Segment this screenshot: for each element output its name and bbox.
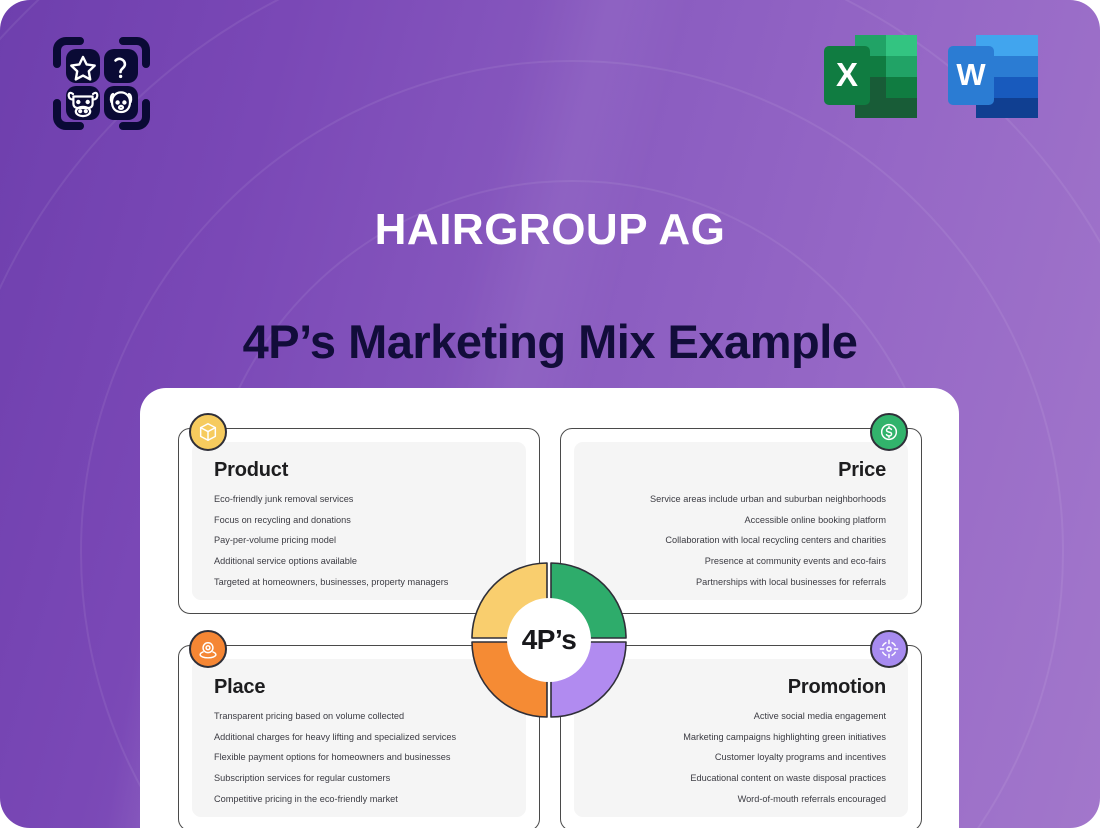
list-item: Accessible online booking platform [596,516,886,525]
quadrant-title: Place [214,676,504,699]
list-item: Eco-friendly junk removal services [214,495,504,504]
microsoft-word-icon[interactable]: W [946,33,1043,120]
target-crosshair-icon[interactable] [870,630,908,668]
quadrant-item-list: Transparent pricing based on volume coll… [214,712,504,804]
list-item: Focus on recycling and donations [214,516,504,525]
svg-text:X: X [836,56,858,93]
quadrant-title: Price [596,459,886,482]
location-globe-icon[interactable] [189,630,227,668]
list-item: Partnerships with local businesses for r… [596,578,886,587]
svg-text:W: W [956,57,986,92]
list-item: Pay-per-volume pricing model [214,536,504,545]
four-ps-donut-chart: 4P’s [465,556,633,724]
quadrant-title: Product [214,459,504,482]
list-item: Educational content on waste disposal pr… [596,774,886,783]
list-item: Transparent pricing based on volume coll… [214,712,504,721]
package-box-icon[interactable] [189,413,227,451]
office-app-icons: X W [822,33,1043,120]
quadrant-item-list: Service areas include urban and suburban… [596,495,886,587]
quadrant-item-list: Eco-friendly junk removal services Focus… [214,495,504,587]
dollar-coin-icon[interactable] [870,413,908,451]
list-item: Subscription services for regular custom… [214,774,504,783]
list-item: Collaboration with local recycling cente… [596,536,886,545]
list-item: Flexible payment options for homeowners … [214,753,504,762]
list-item: Targeted at homeowners, businesses, prop… [214,578,504,587]
list-item: Presence at community events and eco-fai… [596,557,886,566]
slide-canvas: X W HAIRGROUP AG 4P’s Marketing Mix Exam… [0,0,1100,828]
list-item: Service areas include urban and suburban… [596,495,886,504]
list-item: Additional charges for heavy lifting and… [214,733,504,742]
list-item: Competitive pricing in the eco-friendly … [214,795,504,804]
microsoft-excel-icon[interactable]: X [822,33,919,120]
list-item: Word-of-mouth referrals encouraged [596,795,886,804]
list-item: Active social media engagement [596,712,886,721]
list-item: Marketing campaigns highlighting green i… [596,733,886,742]
brand-logo-icon[interactable] [50,32,153,135]
quadrant-title: Promotion [596,676,886,699]
quadrant-item-list: Active social media engagement Marketing… [596,712,886,804]
page-title: 4P’s Marketing Mix Example [0,314,1100,369]
list-item: Additional service options available [214,557,504,566]
page-company-title: HAIRGROUP AG [0,205,1100,255]
list-item: Customer loyalty programs and incentives [596,753,886,762]
